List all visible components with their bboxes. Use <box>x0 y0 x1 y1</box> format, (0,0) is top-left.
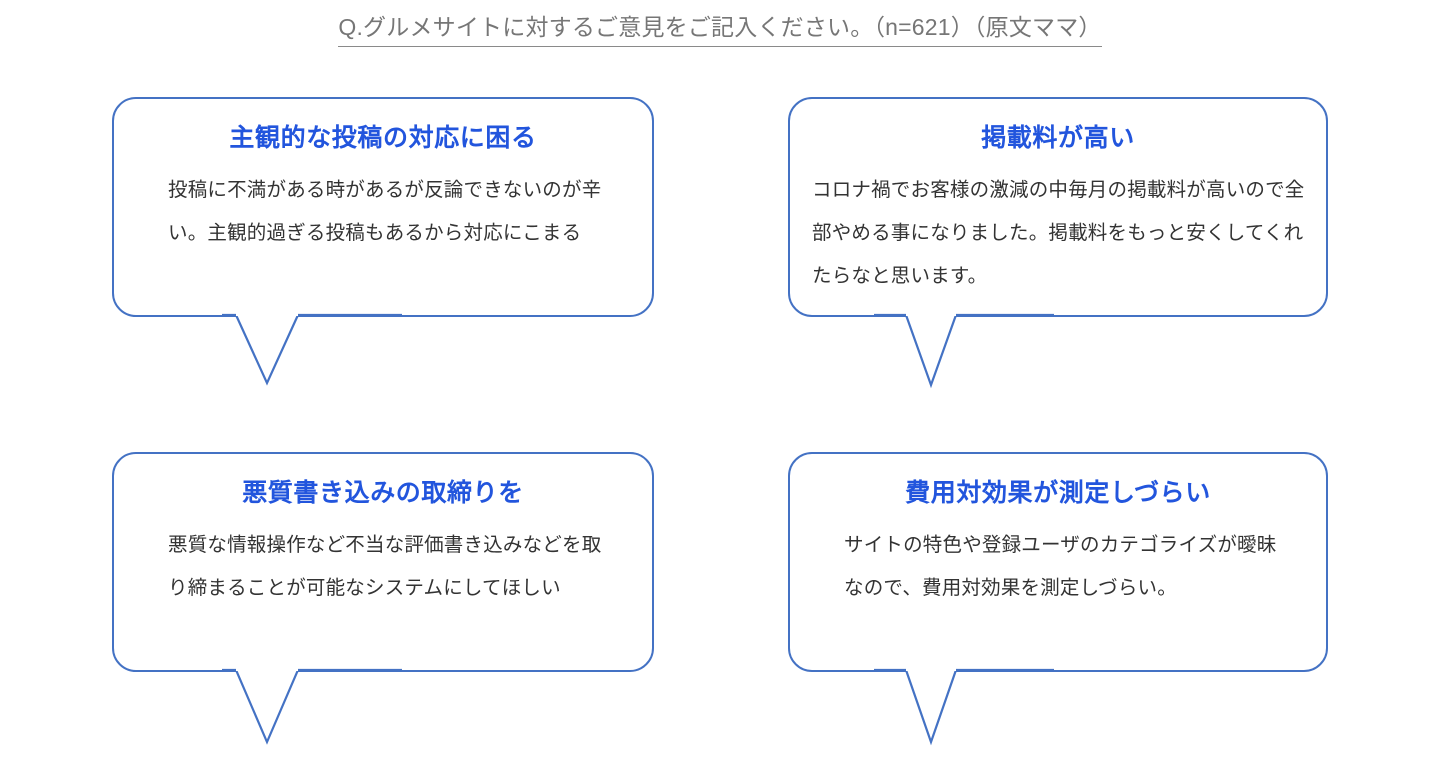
comment-card-1-body: 投稿に不満がある時があるが反論できないのが辛い。主観的過ぎる投稿もあるから対応に… <box>168 169 610 255</box>
comment-card-3-tail <box>222 667 402 749</box>
comment-card-2[interactable]: 掲載料が高い コロナ禍でお客様の激減の中毎月の掲載料が高いので全部やめる事になり… <box>788 97 1328 317</box>
comment-card-4-tail <box>874 667 1054 749</box>
comment-card-1[interactable]: 主観的な投稿の対応に困る 投稿に不満がある時があるが反論できないのが辛い。主観的… <box>112 97 654 317</box>
comment-card-1-heading: 主観的な投稿の対応に困る <box>112 123 654 153</box>
comment-card-3[interactable]: 悪質書き込みの取締りを 悪質な情報操作など不当な評価書き込みなどを取り締まること… <box>112 452 654 672</box>
comment-card-3-body: 悪質な情報操作など不当な評価書き込みなどを取り締まることが可能なシステムにしてほ… <box>168 524 610 610</box>
comment-card-grid: 主観的な投稿の対応に困る 投稿に不満がある時があるが反論できないのが辛い。主観的… <box>0 0 1440 772</box>
comment-card-1-tail <box>222 312 402 390</box>
slide-canvas: Q.グルメサイトに対するご意見をご記入ください。（n=621）（原文ママ） 主観… <box>0 0 1440 772</box>
comment-card-2-heading: 掲載料が高い <box>788 123 1328 153</box>
comment-card-4[interactable]: 費用対効果が測定しづらい サイトの特色や登録ユーザのカテゴライズが曖昧なので、費… <box>788 452 1328 672</box>
comment-card-4-body: サイトの特色や登録ユーザのカテゴライズが曖昧なので、費用対効果を測定しづらい。 <box>844 524 1278 610</box>
comment-card-2-body: コロナ禍でお客様の激減の中毎月の掲載料が高いので全部やめる事になりました。掲載料… <box>812 169 1308 298</box>
comment-card-2-tail <box>874 312 1054 392</box>
comment-card-3-heading: 悪質書き込みの取締りを <box>112 478 654 508</box>
comment-card-4-heading: 費用対効果が測定しづらい <box>788 478 1328 508</box>
